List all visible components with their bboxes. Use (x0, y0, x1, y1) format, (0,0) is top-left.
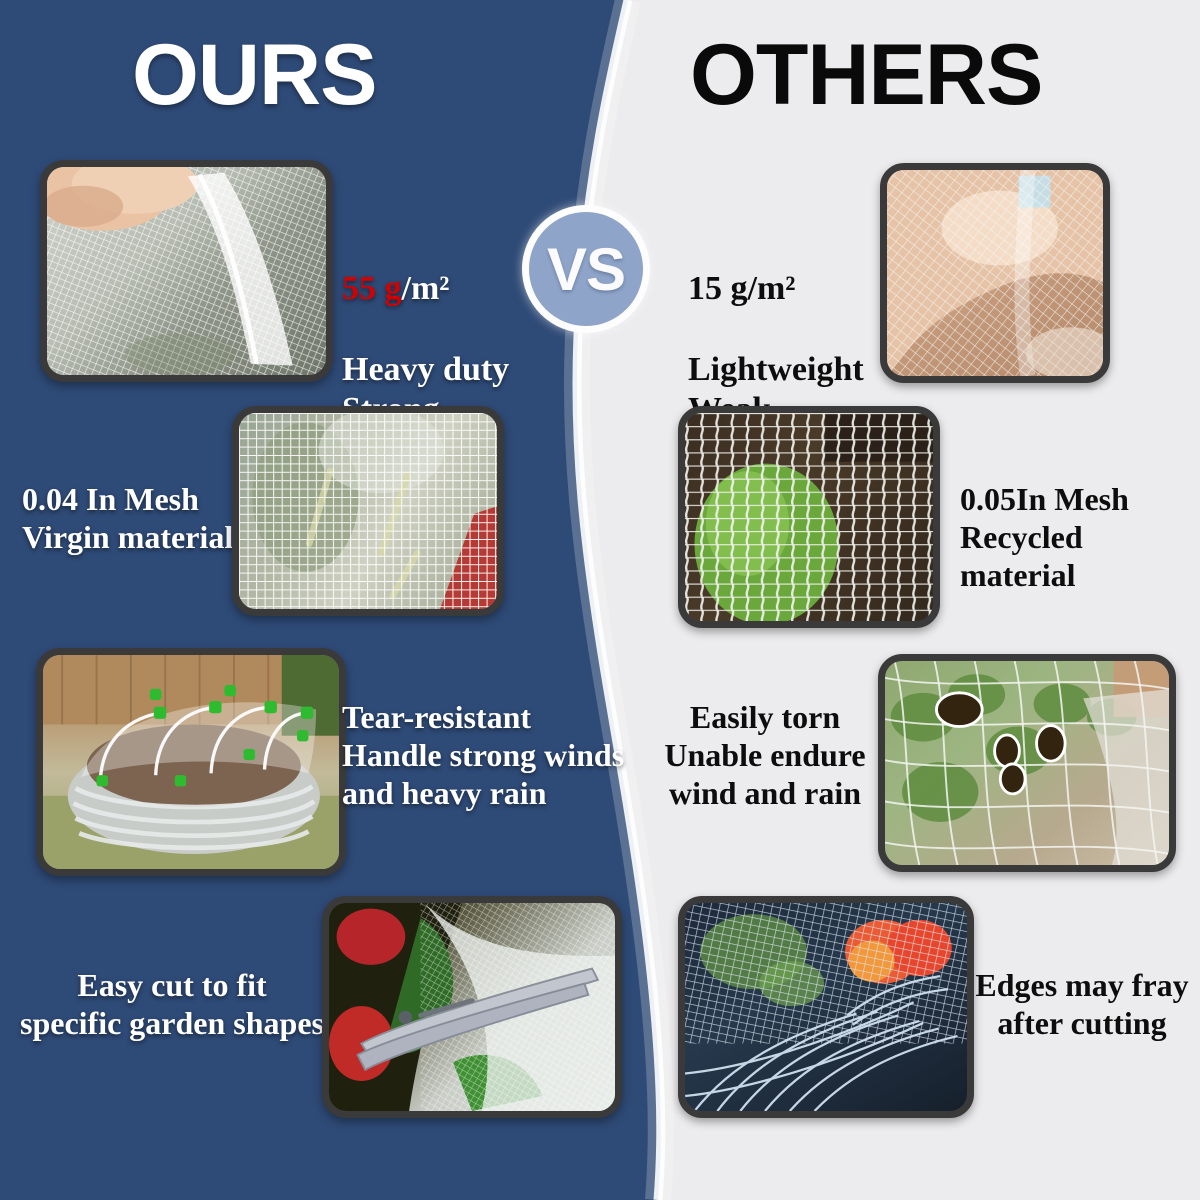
page-title-ours: OURS (132, 32, 376, 118)
row-weight-others-value-line: 15 g/m² (688, 228, 864, 309)
row-cutting-others-lines: Edges may fray after cutting (966, 966, 1198, 1042)
row-cutting-ours-lines: Easy cut to fit specific garden shapes (12, 966, 332, 1042)
scissors-cutting-net-icon (329, 903, 615, 1111)
photo-ours-fine-mesh-closeup (232, 406, 504, 616)
page-title-others: OTHERS (690, 32, 1042, 118)
photo-ours-thick-mesh (40, 160, 333, 382)
weight-value-ours: 55 g (342, 270, 402, 307)
fine-square-mesh-icon (239, 413, 497, 609)
weight-unit-others: /m² (748, 270, 796, 307)
photo-others-coarse-mesh-closeup (678, 406, 940, 628)
loose-mesh-texture-icon (887, 170, 1103, 376)
photo-others-frayed-edges (678, 896, 974, 1118)
photo-ours-garden-bed-cover (36, 648, 346, 876)
frayed-net-threads-icon (685, 903, 967, 1111)
garden-bed-hoop-net-icon (43, 655, 339, 869)
comparison-infographic: OURS OTHERS VS (0, 0, 1200, 1200)
photo-ours-scissors-cut (322, 896, 622, 1118)
vs-badge: VS (522, 205, 650, 333)
fine-mesh-texture-icon (47, 167, 326, 375)
row-durability-ours-lines: Tear-resistant Handle strong winds and h… (342, 698, 648, 812)
weight-unit-ours: /m² (402, 270, 450, 307)
photo-others-torn-net (878, 654, 1176, 872)
coarse-wavy-mesh-icon (685, 413, 933, 621)
vs-badge-label: VS (547, 235, 625, 304)
photo-others-thin-mesh (880, 163, 1110, 383)
torn-net-holes-icon (885, 661, 1169, 865)
row-durability-others-lines: Easily torn Unable endure wind and rain (654, 698, 876, 812)
row-weight-ours-value-line: 55 g/m² (342, 228, 509, 309)
weight-value-others: 15 g (688, 270, 748, 307)
row-mesh-others-lines: 0.05In Mesh Recycled material (960, 480, 1200, 594)
